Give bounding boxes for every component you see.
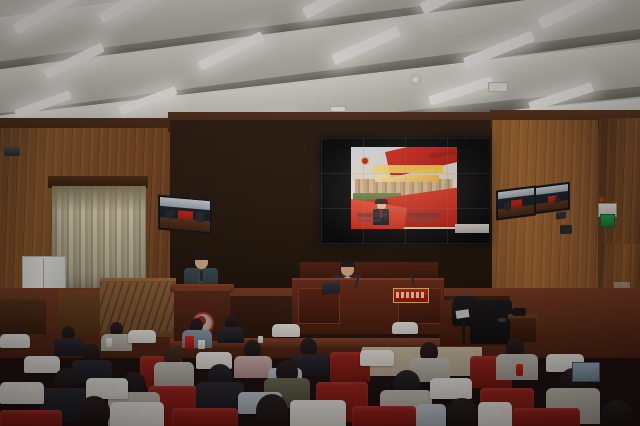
black-equipment-box xyxy=(512,308,526,316)
red-thermos xyxy=(516,364,523,376)
monitor-figure xyxy=(504,202,510,211)
seat-headrest-cover xyxy=(0,382,44,404)
audience-shoulders xyxy=(154,362,194,386)
audience-seating xyxy=(0,316,640,426)
nameplate-text xyxy=(396,292,426,298)
right-wall-monitor-upper[interactable] xyxy=(496,186,536,221)
monitor-top-band xyxy=(498,188,534,200)
seat-headrest-cover xyxy=(0,334,30,348)
monitor-top-band xyxy=(536,184,568,195)
seat-headrest-cover xyxy=(128,330,156,343)
left-side-table-top xyxy=(4,296,38,303)
laptop-on-table[interactable] xyxy=(322,281,340,295)
seat-headrest-cover xyxy=(430,378,472,399)
monitor-top-band xyxy=(160,197,210,210)
audience-shoulders xyxy=(234,356,272,378)
auditorium-seat[interactable] xyxy=(512,408,580,426)
red-nameplate xyxy=(393,288,429,303)
monitor-screen xyxy=(160,197,210,232)
seat-headrest-cover xyxy=(478,402,512,426)
speaker-hair xyxy=(194,252,209,260)
audience-head xyxy=(602,400,632,426)
speaker-tie xyxy=(200,271,203,281)
audience-head xyxy=(78,396,110,426)
monitor-figure xyxy=(166,209,174,219)
monitor-figure xyxy=(555,196,560,204)
monitor-figure xyxy=(196,212,204,222)
audience-head xyxy=(256,394,288,426)
audience-shoulders xyxy=(54,338,84,356)
emergency-exit-sign xyxy=(600,214,615,227)
official-hair xyxy=(340,260,355,267)
paper-cup xyxy=(106,338,112,347)
seat-headrest-cover xyxy=(416,404,446,426)
seat-headrest-cover xyxy=(24,356,60,373)
seat-headrest-cover xyxy=(110,402,164,426)
seat-headrest-cover xyxy=(272,324,300,337)
seat-headrest-cover xyxy=(360,350,394,366)
auditorium-seat[interactable] xyxy=(172,408,238,426)
fire-alarm-indicator-icon xyxy=(599,197,604,202)
conference-hall-photo xyxy=(0,0,640,426)
screen-lower-label xyxy=(455,224,489,233)
audience-shoulders xyxy=(218,327,244,343)
right-wall-monitor-lower[interactable] xyxy=(534,182,570,214)
monitor-mount-bracket xyxy=(556,211,566,219)
sprinkler-icon xyxy=(412,76,419,83)
auditorium-seat[interactable] xyxy=(0,410,62,426)
open-laptop[interactable] xyxy=(572,362,600,382)
ceiling-fixture xyxy=(488,82,508,92)
red-thermos xyxy=(185,336,194,349)
wall-speaker-left xyxy=(4,146,20,156)
wall-camera-icon xyxy=(560,225,572,234)
monitor-screen xyxy=(498,188,534,218)
paper-cup xyxy=(258,336,263,343)
seat-headrest-cover xyxy=(290,400,346,426)
monitor-screen xyxy=(536,184,568,212)
seat-headrest-cover xyxy=(392,322,418,334)
monitor-wood-region xyxy=(536,200,568,212)
paper-cup xyxy=(198,340,205,349)
left-wall-monitor[interactable] xyxy=(158,195,212,235)
auditorium-seat[interactable] xyxy=(352,406,416,426)
audience-head xyxy=(446,398,478,426)
